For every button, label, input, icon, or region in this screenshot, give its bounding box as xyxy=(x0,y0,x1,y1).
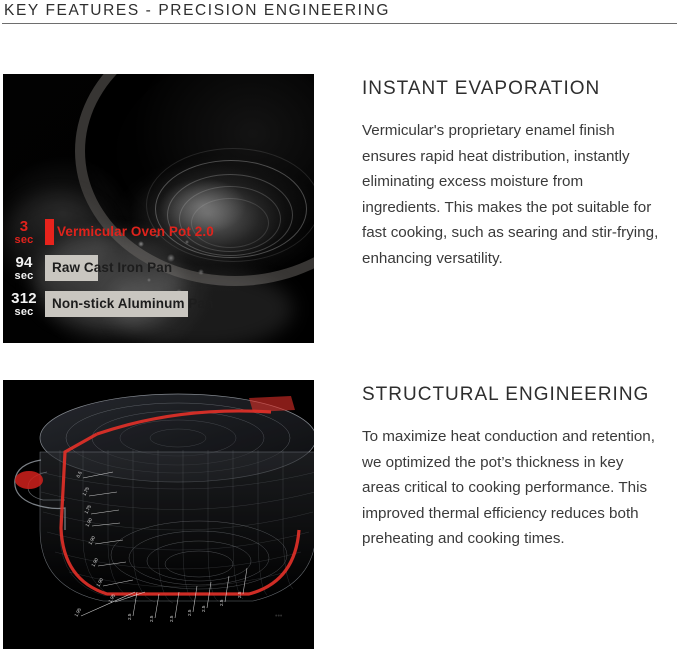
feature-section-structural-engineering: 0.5 1.75 1.75 1.90 1.90 1.90 1.90 1.95 1… xyxy=(0,380,679,649)
bar-time-unit: sec xyxy=(3,307,45,318)
evaporation-bar-chart: 3 sec Vermicular Oven Pot 2.0 94 sec xyxy=(3,214,314,322)
svg-text:2.5: 2.5 xyxy=(219,599,224,606)
bar-time-number: 3 xyxy=(3,219,45,234)
bar-time-unit: sec xyxy=(3,271,45,282)
bar-fill xyxy=(45,219,54,245)
feature-heading: INSTANT EVAPORATION xyxy=(362,78,673,100)
bar-time-unit: sec xyxy=(3,235,45,246)
bar-time-value: 3 sec xyxy=(3,219,45,246)
page-header: KEY FEATURES - PRECISION ENGINEERING xyxy=(0,0,679,24)
svg-text:2.5: 2.5 xyxy=(201,605,206,612)
bar-time-value: 312 sec xyxy=(3,291,45,318)
chart-bar-row: 94 sec Raw Cast Iron Pan xyxy=(3,250,314,286)
svg-text:2.5: 2.5 xyxy=(187,609,192,616)
svg-text:2.5: 2.5 xyxy=(237,591,242,598)
title-divider xyxy=(2,23,677,24)
svg-text:2.5: 2.5 xyxy=(169,615,174,622)
cad-brand-mark: ••• xyxy=(275,613,283,620)
bar-label: Non-stick Aluminum Pan xyxy=(52,291,213,317)
cad-red-lid-accent xyxy=(249,396,295,412)
bar-track: Vermicular Oven Pot 2.0 xyxy=(45,219,314,245)
cad-wireframe-svg: 0.5 1.75 1.75 1.90 1.90 1.90 1.90 1.95 1… xyxy=(3,380,314,649)
bar-label: Vermicular Oven Pot 2.0 xyxy=(57,219,214,245)
steaming-pot-photo: 3 sec Vermicular Oven Pot 2.0 94 sec xyxy=(3,74,314,343)
svg-text:2.5: 2.5 xyxy=(149,615,154,622)
bar-track: Raw Cast Iron Pan xyxy=(45,255,314,281)
bar-time-value: 94 sec xyxy=(3,255,45,282)
page-title: KEY FEATURES - PRECISION ENGINEERING xyxy=(0,0,679,20)
wireframe-cad-pot-diagram: 0.5 1.75 1.75 1.90 1.90 1.90 1.90 1.95 1… xyxy=(3,380,314,649)
feature-section-instant-evaporation: 3 sec Vermicular Oven Pot 2.0 94 sec xyxy=(0,74,679,343)
feature-media-1: 3 sec Vermicular Oven Pot 2.0 94 sec xyxy=(3,74,314,343)
bar-time-number: 312 xyxy=(3,291,45,306)
svg-text:2.5: 2.5 xyxy=(127,613,132,620)
feature-media-2: 0.5 1.75 1.75 1.90 1.90 1.90 1.90 1.95 1… xyxy=(3,380,314,649)
bar-label: Raw Cast Iron Pan xyxy=(52,255,172,281)
feature-text-1: INSTANT EVAPORATION Vermicular's proprie… xyxy=(314,74,679,271)
feature-text-2: STRUCTURAL ENGINEERING To maximize heat … xyxy=(314,380,679,552)
bar-track: Non-stick Aluminum Pan xyxy=(45,291,314,317)
feature-body: Vermicular's proprietary enamel finish e… xyxy=(362,118,662,271)
feature-body: To maximize heat conduction and retentio… xyxy=(362,424,662,552)
bar-time-number: 94 xyxy=(3,255,45,270)
chart-bar-row: 312 sec Non-stick Aluminum Pan xyxy=(3,286,314,322)
chart-bar-row: 3 sec Vermicular Oven Pot 2.0 xyxy=(3,214,314,250)
feature-heading: STRUCTURAL ENGINEERING xyxy=(362,384,673,406)
